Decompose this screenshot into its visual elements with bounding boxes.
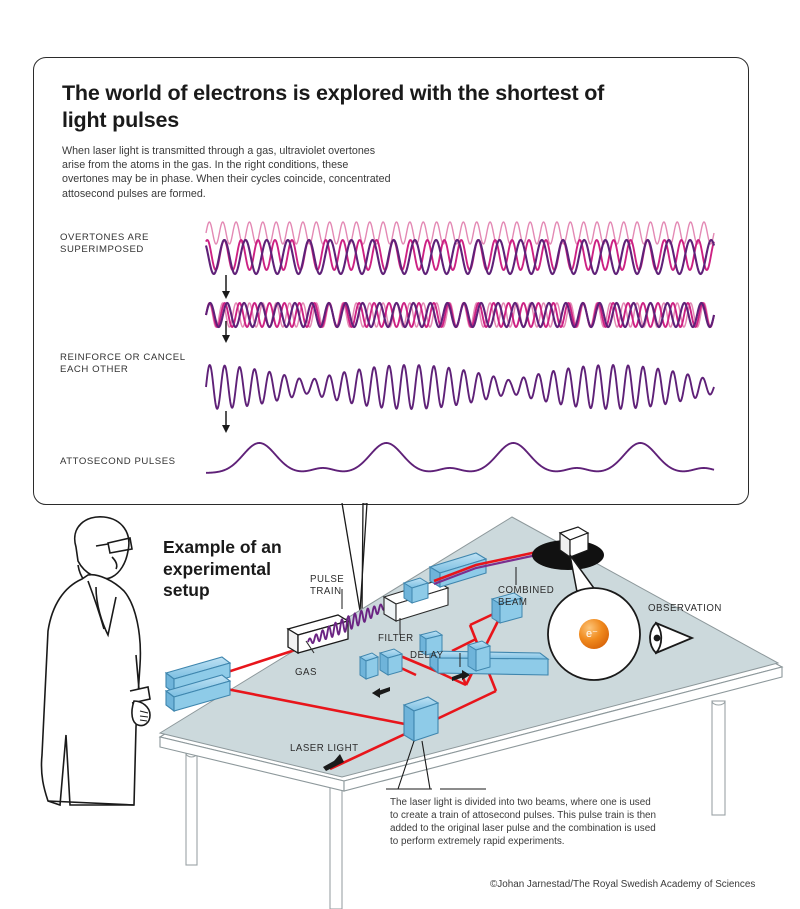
label-delay: DELAY: [410, 650, 444, 662]
wave-label-reinforce: REINFORCE OR CANCEL EACH OTHER: [60, 352, 200, 377]
scientist-figure: [41, 517, 150, 805]
wave-label-overtones: OVERTONES ARE SUPERIMPOSED: [60, 232, 190, 257]
label-gas: GAS: [295, 667, 317, 679]
panel-overtones-superimposed: [206, 222, 714, 274]
label-laser-light: LASER LIGHT: [290, 743, 359, 755]
infographic-root: The world of electrons is explored with …: [0, 0, 800, 909]
wave-label-attosecond: ATTOSECOND PULSES: [60, 456, 210, 468]
panel-reinforce-or-cancel: [206, 365, 714, 409]
page-title: The world of electrons is explored with …: [62, 80, 622, 134]
setup-illustration: [0, 505, 800, 909]
label-filter: FILTER: [378, 633, 414, 645]
card-body-text: When laser light is transmitted through …: [62, 144, 392, 201]
credit-line: ©Johan Jarnestad/The Royal Swedish Acade…: [490, 879, 790, 890]
down-arrow-icon-1: [222, 275, 230, 299]
wave-traces: [200, 215, 720, 495]
panel-overtones-in-phase: [206, 303, 714, 327]
label-combined-beam: COMBINED BEAM: [498, 585, 560, 609]
experimental-setup-scene: Example of an experimental setup: [0, 505, 800, 909]
label-pulse-train: PULSE TRAIN: [310, 574, 366, 598]
setup-caption: The laser light is divided into two beam…: [390, 796, 658, 848]
down-arrow-icon-2: [222, 321, 230, 343]
down-arrow-icon-3: [222, 411, 230, 433]
label-observation: OBSERVATION: [648, 603, 722, 615]
panel-attosecond-pulses: [206, 443, 714, 473]
optic-beam-splitter: [404, 697, 438, 741]
electron-label: e⁻: [586, 627, 598, 640]
